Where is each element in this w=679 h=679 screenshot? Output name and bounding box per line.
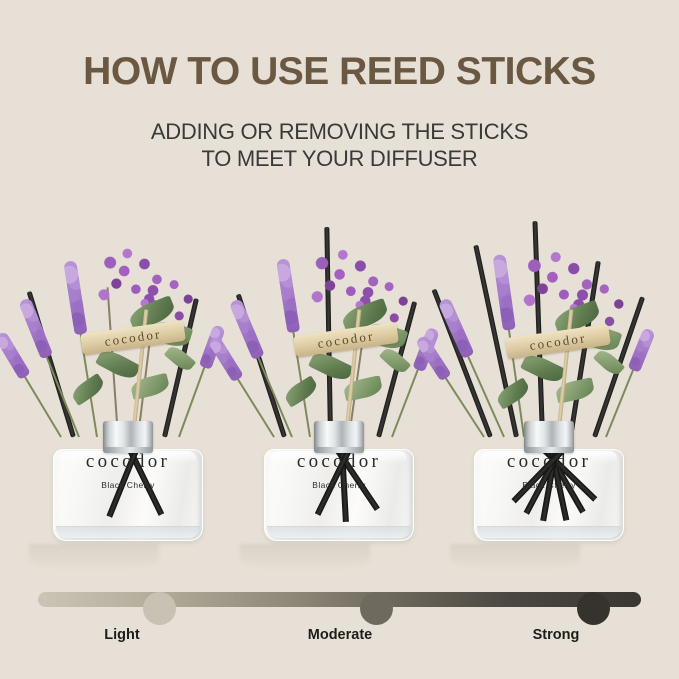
brand-tag-label: cocodor <box>104 326 163 350</box>
diffuser-strong: cocodor cocodor Black Cherry <box>440 205 658 560</box>
sage-leaf <box>282 375 320 407</box>
page-title: HOW TO USE REED STICKS <box>0 52 679 93</box>
submerged-reed-stick <box>106 449 139 518</box>
bottle-cap <box>103 421 153 453</box>
brand-tag-label: cocodor <box>317 328 376 352</box>
bottle-reflection <box>450 544 580 570</box>
slider-knob-strong[interactable] <box>577 592 610 625</box>
slider-track[interactable] <box>38 592 641 607</box>
brand-tag-label: cocodor <box>529 330 588 354</box>
slider-label-strong: Strong <box>496 627 616 643</box>
intensity-slider[interactable]: Light Moderate Strong <box>0 583 679 653</box>
product-comparison-row: cocodor cocodor Black Cherry <box>0 205 679 560</box>
bottle-cap <box>314 421 364 453</box>
sage-leaf <box>494 377 532 409</box>
slider-knob-moderate[interactable] <box>360 592 393 625</box>
bouquet-light: cocodor <box>19 205 237 437</box>
slider-label-light: Light <box>62 627 182 643</box>
diffuser-bottle: cocodor Black Cherry <box>474 421 624 541</box>
bottle-glass <box>474 449 624 541</box>
diffuser-light: cocodor cocodor Black Cherry <box>19 205 237 560</box>
bouquet-moderate: cocodor <box>230 205 448 437</box>
sage-leaf <box>69 373 107 406</box>
diffuser-bottle: cocodor Black Cherry <box>264 421 414 541</box>
slider-label-moderate: Moderate <box>280 627 400 643</box>
bottle-reflection <box>29 544 159 570</box>
diffuser-bottle: cocodor Black Cherry <box>53 421 203 541</box>
bottle-cap <box>524 421 574 453</box>
subtitle-line-1: ADDING OR REMOVING THE STICKS <box>151 119 528 144</box>
slider-knob-light[interactable] <box>143 592 176 625</box>
page-subtitle: ADDING OR REMOVING THE STICKS TO MEET YO… <box>0 119 679 173</box>
subtitle-line-2: TO MEET YOUR DIFFUSER <box>0 146 679 173</box>
bottle-reflection <box>240 544 370 570</box>
infographic-header: HOW TO USE REED STICKS ADDING OR REMOVIN… <box>0 0 679 173</box>
bottle-glass <box>53 449 203 541</box>
bottle-glass <box>264 449 414 541</box>
bouquet-strong: cocodor <box>440 205 658 437</box>
diffuser-moderate: cocodor cocodor Black Cherry <box>230 205 448 560</box>
